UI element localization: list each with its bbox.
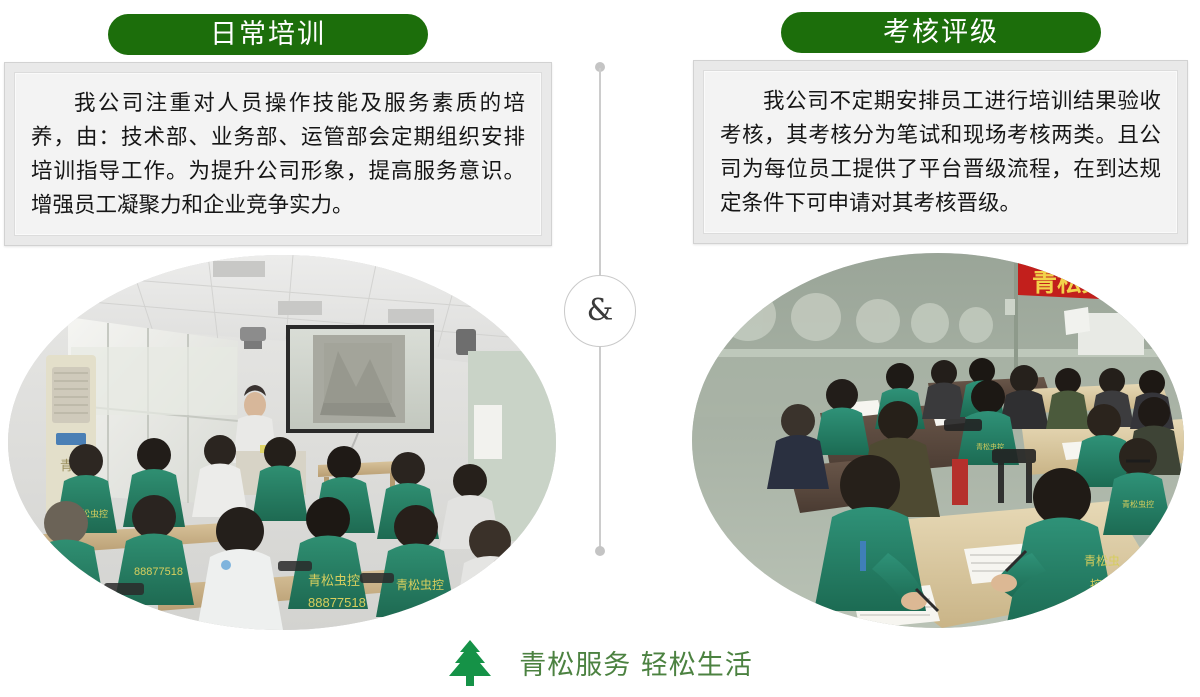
ampersand-symbol: & (587, 296, 614, 326)
description-box-assessment-grading: 我公司不定期安排员工进行培训结果验收考核，其考核分为笔试和现场考核两类。且公司为… (693, 60, 1188, 244)
svg-text:青松虫控: 青松虫控 (1122, 499, 1154, 509)
svg-text:88877518: 88877518 (308, 595, 366, 610)
description-box-daily-training: 我公司注重对人员操作技能及服务素质的培养，由：技术部、业务部、运管部会定期组织安… (4, 62, 552, 246)
svg-text:青松集团20: 青松集团20 (1032, 268, 1160, 297)
svg-text:青松虫控: 青松虫控 (308, 573, 360, 588)
description-text: 我公司注重对人员操作技能及服务素质的培养，由：技术部、业务部、运管部会定期组织安… (31, 87, 525, 223)
description-inner-panel: 我公司注重对人员操作技能及服务素质的培养，由：技术部、业务部、运管部会定期组织安… (14, 72, 542, 236)
pine-tree-icon (447, 639, 493, 687)
assessment-exam-illustration: 青松集团20 (692, 253, 1184, 628)
footer-slogan-text: 青松服务 轻松生活 (519, 643, 753, 682)
svg-text:青松虫: 青松虫 (1084, 554, 1120, 568)
assessment-exam-photo: 青松集团20 (692, 253, 1184, 628)
description-inner-panel: 我公司不定期安排员工进行培训结果验收考核，其考核分为笔试和现场考核两类。且公司为… (703, 70, 1178, 234)
description-text: 我公司不定期安排员工进行培训结果验收考核，其考核分为笔试和现场考核两类。且公司为… (720, 85, 1161, 221)
svg-text:控: 控 (1090, 578, 1102, 592)
pill-label: 考核评级 (883, 19, 999, 46)
training-classroom-photo: 青松 青松虫控 (8, 255, 556, 630)
svg-text:88877518: 88877518 (134, 566, 183, 578)
svg-text:青松虫控: 青松虫控 (46, 581, 98, 596)
ampersand-badge: & (564, 275, 636, 347)
section-heading-pill-assessment-grading: 考核评级 (781, 12, 1101, 53)
pill-label: 日常培训 (210, 21, 326, 48)
footer-slogan-bar: 青松服务 轻松生活 (0, 628, 1200, 697)
divider-dot-bottom (595, 546, 605, 556)
section-heading-pill-daily-training: 日常培训 (108, 14, 428, 55)
center-divider: & (588, 60, 612, 558)
training-classroom-illustration: 青松 青松虫控 (8, 255, 556, 630)
svg-text:青松虫控: 青松虫控 (396, 578, 444, 592)
